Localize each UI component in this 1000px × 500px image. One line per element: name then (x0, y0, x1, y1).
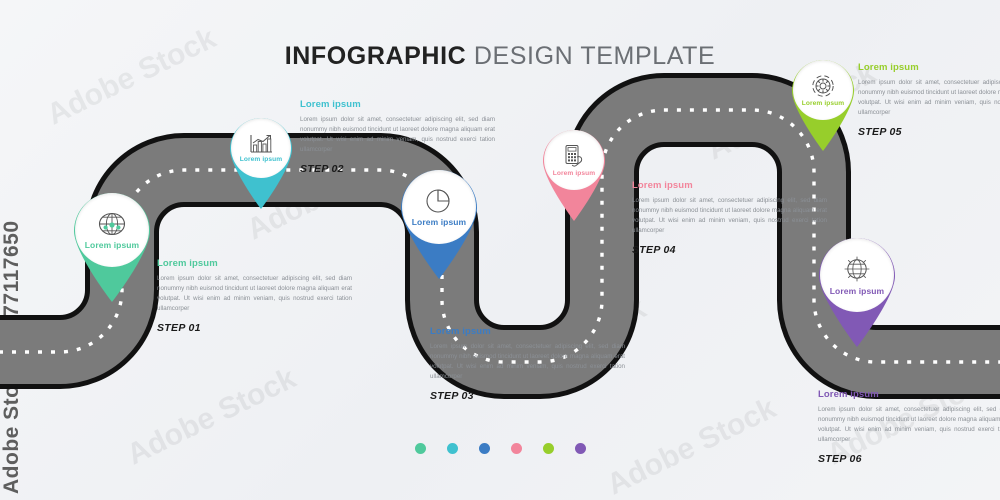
text-block-step-05: Lorem ipsum Lorem ipsum dolor sit amet, … (858, 62, 1000, 138)
pie-chart-icon (425, 187, 453, 214)
pin-core: Lorem ipsum (820, 238, 894, 312)
legend-dot-5[interactable] (543, 443, 554, 454)
pin-core: Lorem ipsum (231, 118, 291, 178)
text-block-step-02: Lorem ipsum Lorem ipsum dolor sit amet, … (300, 99, 495, 175)
block-heading: Lorem ipsum (818, 389, 1000, 400)
block-body: Lorem ipsum dolor sit amet, consectetuer… (157, 274, 352, 314)
map-pin-step-03[interactable]: Lorem ipsum (391, 160, 487, 280)
pin-core: Lorem ipsum (793, 60, 853, 120)
block-step-label: STEP 04 (632, 244, 827, 256)
pin-core: Lorem ipsum (544, 130, 604, 190)
block-body: Lorem ipsum dolor sit amet, consectetuer… (430, 342, 625, 382)
legend-dot-3[interactable] (479, 443, 490, 454)
pin-core: Lorem ipsum (402, 170, 476, 244)
block-step-label: STEP 05 (858, 126, 1000, 138)
block-heading: Lorem ipsum (430, 326, 625, 337)
infographic-canvas: Adobe Stock Adobe Stock Adobe Stock Adob… (0, 0, 1000, 500)
pin-label: Lorem ipsum (412, 217, 466, 227)
block-heading: Lorem ipsum (300, 99, 495, 110)
map-pin-step-01[interactable]: Lorem ipsum (64, 183, 160, 303)
calculator-hand-icon (563, 144, 586, 168)
map-pin-step-05[interactable]: Lorem ipsum (784, 52, 862, 152)
globe-network-icon (97, 211, 127, 237)
text-block-step-03: Lorem ipsum Lorem ipsum dolor sit amet, … (430, 326, 625, 402)
pin-label: Lorem ipsum (830, 286, 884, 296)
block-body: Lorem ipsum dolor sit amet, consectetuer… (300, 115, 495, 155)
text-block-step-01: Lorem ipsum Lorem ipsum dolor sit amet, … (157, 258, 352, 334)
legend-dot-6[interactable] (575, 443, 586, 454)
legend-dots (0, 443, 1000, 454)
block-step-label: STEP 03 (430, 390, 625, 402)
block-step-label: STEP 01 (157, 322, 352, 334)
block-step-label: STEP 06 (818, 453, 1000, 465)
legend-dot-4[interactable] (511, 443, 522, 454)
pin-core: Lorem ipsum (75, 193, 149, 267)
globe-sphere-icon (843, 255, 871, 283)
gear-cog-icon (811, 74, 835, 98)
block-body: Lorem ipsum dolor sit amet, consectetuer… (632, 196, 827, 236)
block-heading: Lorem ipsum (858, 62, 1000, 73)
pin-label: Lorem ipsum (802, 100, 845, 107)
bar-chart-trend-icon (249, 133, 273, 154)
block-body: Lorem ipsum dolor sit amet, consectetuer… (818, 405, 1000, 445)
pin-label: Lorem ipsum (240, 156, 283, 163)
map-pin-step-02[interactable]: Lorem ipsum (222, 110, 300, 210)
block-body: Lorem ipsum dolor sit amet, consectetuer… (858, 78, 1000, 118)
block-step-label: STEP 02 (300, 163, 495, 175)
block-heading: Lorem ipsum (157, 258, 352, 269)
pin-label: Lorem ipsum (85, 240, 139, 250)
block-heading: Lorem ipsum (632, 180, 827, 191)
pin-label: Lorem ipsum (553, 170, 596, 177)
map-pin-step-04[interactable]: Lorem ipsum (535, 122, 613, 222)
text-block-step-04: Lorem ipsum Lorem ipsum dolor sit amet, … (632, 180, 827, 256)
legend-dot-2[interactable] (447, 443, 458, 454)
legend-dot-1[interactable] (415, 443, 426, 454)
